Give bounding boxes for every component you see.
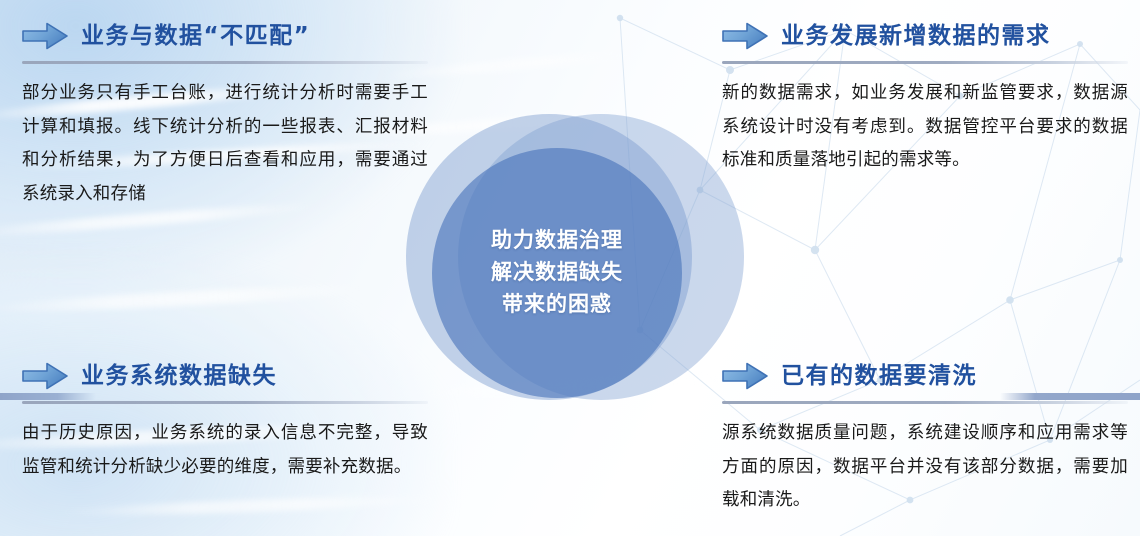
block-top-right-title: 业务发展新增数据的需求 — [781, 25, 1051, 48]
block-bottom-left: 业务系统数据缺失 由于历史原因，业务系统的录入信息不完整，导致监管和统计分析缺少… — [22, 358, 428, 484]
block-top-right: 业务发展新增数据的需求 新的数据需求，如业务发展和新监管要求，数据源系统设计时没… — [722, 18, 1128, 178]
block-top-left-header: 业务与数据“不匹配” — [22, 18, 428, 54]
block-bottom-left-title: 业务系统数据缺失 — [81, 365, 277, 388]
arrow-right-icon — [22, 22, 68, 50]
center-caption-line-1: 助力数据治理 — [491, 226, 623, 256]
center-circle-group: 助力数据治理 解决数据缺失 带来的困惑 — [398, 108, 742, 408]
block-bottom-right-divider — [722, 401, 1128, 404]
block-top-left-body: 部分业务只有手工台账，进行统计分析时需要手工计算和填报。线下统计分析的一些报表、… — [22, 77, 428, 211]
block-top-left-title: 业务与数据“不匹配” — [81, 25, 310, 48]
block-bottom-right-title: 已有的数据要清洗 — [781, 365, 977, 388]
block-top-left: 业务与数据“不匹配” 部分业务只有手工台账，进行统计分析时需要手工计算和填报。线… — [22, 18, 428, 211]
block-top-right-body: 新的数据需求，如业务发展和新监管要求，数据源系统设计时没有考虑到。数据管控平台要… — [722, 77, 1128, 178]
infographic-slide: 助力数据治理 解决数据缺失 带来的困惑 业务与数据“不匹配” 部分业务只有手工台… — [0, 0, 1140, 536]
block-bottom-left-body: 由于历史原因，业务系统的录入信息不完整，导致监管和统计分析缺少必要的维度，需要补… — [22, 417, 428, 484]
arrow-right-icon — [722, 362, 768, 390]
center-caption-line-3: 带来的困惑 — [502, 290, 612, 320]
center-caption-line-2: 解决数据缺失 — [491, 258, 623, 288]
block-bottom-right: 已有的数据要清洗 源系统数据质量问题，系统建设顺序和应用需求等方面的原因，数据平… — [722, 358, 1128, 518]
block-bottom-left-divider — [22, 401, 428, 404]
arrow-right-icon — [722, 22, 768, 50]
block-bottom-right-body: 源系统数据质量问题，系统建设顺序和应用需求等方面的原因，数据平台并没有该部分数据… — [722, 417, 1128, 518]
block-top-left-divider — [22, 61, 428, 64]
block-top-right-header: 业务发展新增数据的需求 — [722, 18, 1128, 54]
block-top-right-divider — [722, 61, 1128, 64]
block-bottom-left-header: 业务系统数据缺失 — [22, 358, 428, 394]
arrow-right-icon — [22, 362, 68, 390]
center-caption: 助力数据治理 解决数据缺失 带来的困惑 — [432, 148, 682, 398]
block-bottom-right-header: 已有的数据要清洗 — [722, 358, 1128, 394]
